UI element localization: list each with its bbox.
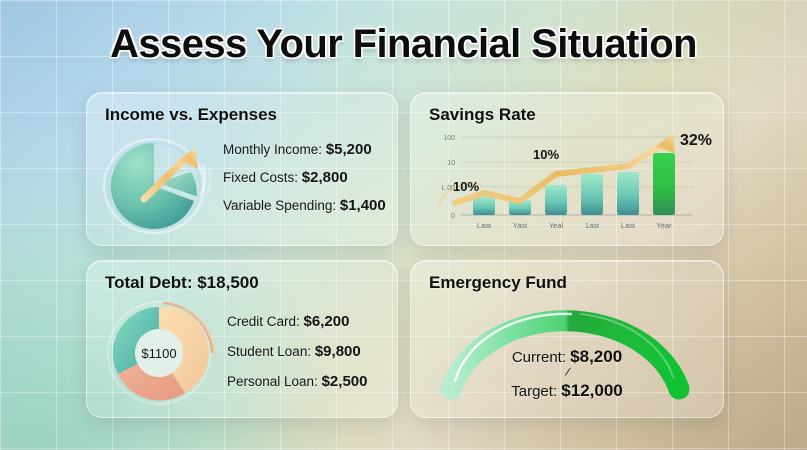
stat-value: $6,200 — [304, 313, 350, 330]
bar-0 — [473, 197, 495, 215]
stat-credit-card: Credit Card: $6,200 — [227, 313, 367, 330]
gauge-current: Current: $8,200 — [512, 349, 622, 366]
y-tick-100: 100 — [443, 135, 455, 142]
stat-student-loan: Student Loan: $9,800 — [227, 343, 367, 360]
stat-label: Personal Loan: — [227, 374, 318, 389]
bar-3 — [581, 174, 603, 215]
gauge-current-row: Current: $8,200 — [411, 347, 723, 367]
x-tick-4: Last — [621, 221, 636, 230]
stat-variable-spending: Variable Spending: $1,400 — [223, 197, 386, 214]
x-tick-1: Yast — [513, 221, 528, 230]
x-tick-3: 1ast — [585, 221, 600, 230]
debt-stats-list: Credit Card: $6,200 Student Loan: $9,800… — [227, 313, 367, 403]
y-tick-10: 10 — [447, 160, 455, 167]
bar-2 — [545, 185, 567, 215]
card-savings-rate: Savings Rate — [410, 92, 724, 246]
x-tick-5: Year — [656, 221, 672, 230]
gauge-target-row: Target: $12,000 — [411, 381, 723, 401]
x-tick-0: Last — [477, 221, 492, 230]
stat-personal-loan: Personal Loan: $2,500 — [227, 373, 367, 390]
card-emergency-fund: Emergency Fund Current: $8,200 — [410, 260, 724, 418]
annotation-pct-end: 32% — [680, 132, 712, 149]
annotation-pct-left: 10% — [453, 179, 479, 194]
stat-value: $9,800 — [315, 343, 361, 360]
stat-fixed-costs: Fixed Costs: $2,800 — [223, 169, 386, 186]
stat-monthly-income: Monthly Income: $5,200 — [223, 141, 386, 158]
donut-center-label: $1100 — [141, 346, 176, 361]
stat-value: $5,200 — [326, 141, 372, 158]
card-fund-title: Emergency Fund — [429, 273, 567, 293]
gauge-target: Target: $12,000 — [511, 383, 622, 400]
stat-value: $1,400 — [340, 197, 386, 214]
gauge-current-value: $8,200 — [570, 347, 622, 366]
bar-4 — [617, 172, 639, 215]
card-income-title: Income vs. Expenses — [105, 105, 277, 125]
y-tick-0: 0 — [451, 213, 455, 220]
infographic-page: Assess Your Financial Situation Income v… — [0, 0, 807, 450]
gauge-current-label: Current: — [512, 349, 566, 366]
card-debt-title: Total Debt: $18,500 — [105, 273, 259, 293]
stat-label: Student Loan: — [227, 344, 311, 359]
stat-label: Variable Spending: — [223, 198, 336, 213]
card-savings-title: Savings Rate — [429, 105, 536, 125]
debt-donut-chart: $1100 — [101, 297, 231, 409]
annotation-pct-mid: 10% — [533, 147, 559, 162]
x-tick-2: Yeal — [549, 221, 564, 230]
page-title: Assess Your Financial Situation — [0, 22, 807, 67]
stat-label: Monthly Income: — [223, 142, 322, 157]
stat-value: $2,500 — [322, 373, 368, 390]
gauge-target-value: $12,000 — [561, 381, 622, 400]
stat-value: $2,800 — [302, 169, 348, 186]
stat-label: Fixed Costs: — [223, 170, 298, 185]
pie-chart-with-arrow-icon — [99, 131, 219, 236]
stat-label: Credit Card: — [227, 314, 300, 329]
bar-5 — [653, 153, 675, 215]
savings-rate-bar-chart: 100 10 L.00 0 Last Yast Yeal 1ast Last Y… — [425, 129, 705, 239]
income-stats-list: Monthly Income: $5,200 Fixed Costs: $2,8… — [223, 141, 386, 225]
card-total-debt: Total Debt: $18,500 — [86, 260, 398, 418]
gauge-target-label: Target: — [511, 383, 557, 400]
card-income-vs-expenses: Income vs. Expenses — [86, 92, 398, 246]
